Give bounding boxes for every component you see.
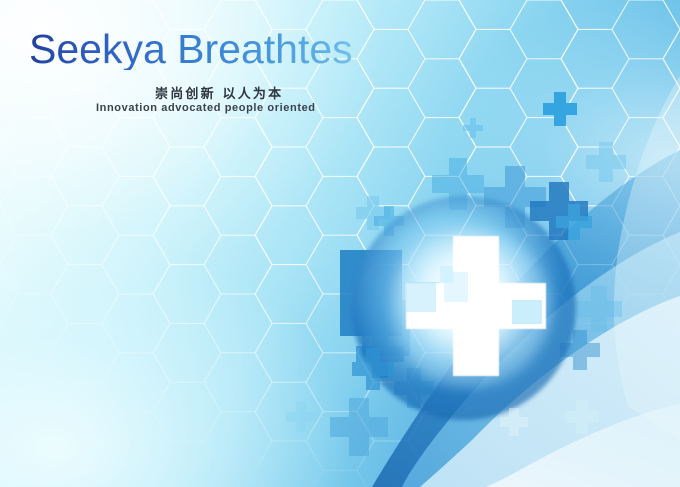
cross-bottom-far	[565, 400, 599, 434]
tile-hero-f	[444, 272, 468, 302]
cross-bottom-big	[330, 398, 388, 456]
poster-canvas: Seekya Breathtes 崇尚创新 以人为本 Innovation ad…	[0, 0, 680, 487]
cross-bottom-left	[352, 348, 394, 390]
cross-right-mid	[556, 204, 592, 240]
slogan-english: Innovation advocated people oriented	[96, 102, 316, 114]
slogan-chinese: 崇尚创新 以人为本	[155, 83, 283, 102]
cross-lower-right-pale	[500, 408, 528, 436]
cross-right-edge	[576, 286, 622, 332]
cross-tr-small	[543, 92, 577, 126]
cross-right-upper	[586, 142, 626, 182]
cross-bottom-pale	[286, 402, 316, 432]
tile-hero-g	[512, 300, 542, 324]
cross-tr-tiny	[463, 118, 483, 138]
tile-hero-e	[406, 282, 436, 312]
page-title: Seekya Breathtes	[29, 29, 353, 70]
ribbon-right-edge	[614, 76, 680, 440]
